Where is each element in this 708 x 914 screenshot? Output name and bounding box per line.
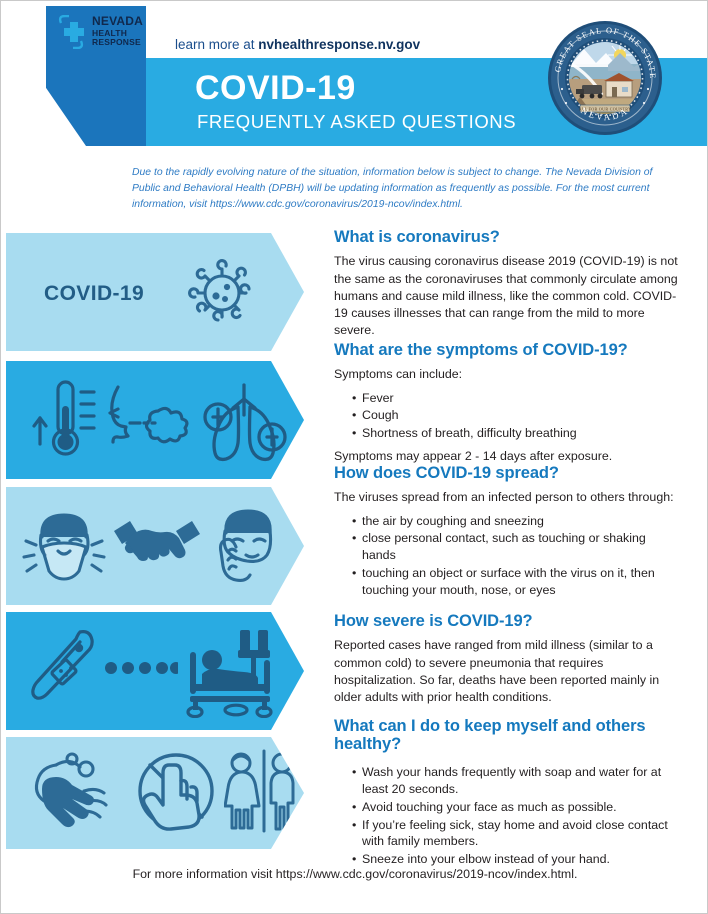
logo-tail-shape [46,58,146,146]
lungs-icon [196,379,292,463]
section-keep-healthy: What can I do to keep myself and others … [334,717,679,874]
digital-thermometer-icon [28,626,106,718]
no-touching-icon [131,749,221,833]
medical-cross-icon [55,15,87,49]
page-subtitle: FREQUENTLY ASKED QUESTIONS [197,113,516,132]
disclaimer-text: Due to the rapidly evolving nature of th… [132,165,672,213]
list-item: Cough [352,407,679,424]
page-title: COVID-19 [195,71,356,105]
thermometer-icon [28,376,100,464]
learn-more-text: learn more at nvhealthresponse.nv.gov [175,37,420,52]
section-heading: How does COVID-19 spread? [334,464,679,482]
list-item: close personal contact, such as touching… [352,530,679,564]
washing-hands-icon [26,749,120,833]
panel-severity [6,612,304,730]
section-heading: What are the symptoms of COVID-19? [334,341,679,359]
section-paragraph: The virus causing coronavirus disease 20… [334,253,679,339]
section-bullet-list: Fever Cough Shortness of breath, difficu… [334,390,679,443]
section-paragraph: The viruses spread from an infected pers… [334,489,679,506]
nevada-state-seal: ALL FOR OUR COUNTRY THE GREAT SEAL OF TH… [546,19,664,137]
learn-more-url[interactable]: nvhealthresponse.nv.gov [258,37,420,52]
list-item: Avoid touching your face as much as poss… [352,799,679,816]
section-how-severe: How severe is COVID-19? Reported cases h… [334,612,679,712]
learn-more-prefix: learn more at [175,37,258,52]
footer-text: For more information visit https://www.c… [1,867,708,881]
social-distancing-icon [224,749,298,835]
panel-symptoms [6,361,304,479]
section-heading: What can I do to keep myself and others … [334,717,679,754]
page-header: NEVADA HEALTH RESPONSE learn more at nvh… [1,1,708,153]
list-item: touching an object or surface with the v… [352,565,679,599]
panel-prevention [6,737,304,849]
list-item: Fever [352,390,679,407]
section-what-is-coronavirus: What is coronavirus? The virus causing c… [334,228,679,345]
section-closing: Symptoms may appear 2 - 14 days after ex… [334,448,679,465]
section-bullet-list: the air by coughing and sneezing close p… [334,513,679,599]
logo-line-1: NEVADA [92,15,143,28]
nevada-health-response-logo[interactable]: NEVADA HEALTH RESPONSE [46,6,146,58]
dots-icon [104,660,178,676]
virus-icon [184,255,260,331]
handshake-icon [110,513,204,579]
logo-wordmark: NEVADA HEALTH RESPONSE [92,15,143,47]
list-item: the air by coughing and sneezing [352,513,679,530]
list-item: Sneeze into your elbow instead of your h… [352,851,679,868]
panel-covid19: COVID-19 [6,233,304,351]
section-symptoms: What are the symptoms of COVID-19? Sympt… [334,341,679,471]
section-heading: What is coronavirus? [334,228,679,246]
list-item: If you’re feeling sick, stay home and av… [352,817,679,851]
masked-face-icon [22,503,112,589]
panel-covid19-label: COVID-19 [44,282,144,306]
list-item: Shortness of breath, difficulty breathin… [352,425,679,442]
logo-line-3: RESPONSE [92,38,143,47]
coughing-face-icon [106,383,192,459]
list-item: Wash your hands frequently with soap and… [352,764,679,798]
panel-spread [6,487,304,605]
section-paragraph: Symptoms can include: [334,366,679,383]
faq-infographic-page: NEVADA HEALTH RESPONSE learn more at nvh… [0,0,708,914]
section-heading: How severe is COVID-19? [334,612,679,630]
section-bullet-list: Wash your hands frequently with soap and… [334,764,679,868]
face-touching-icon [202,503,290,591]
section-how-covid19-spreads: How does COVID-19 spread? The viruses sp… [334,464,679,605]
hospital-bed-icon [178,624,284,718]
section-paragraph: Reported cases have ranged from mild ill… [334,637,679,705]
